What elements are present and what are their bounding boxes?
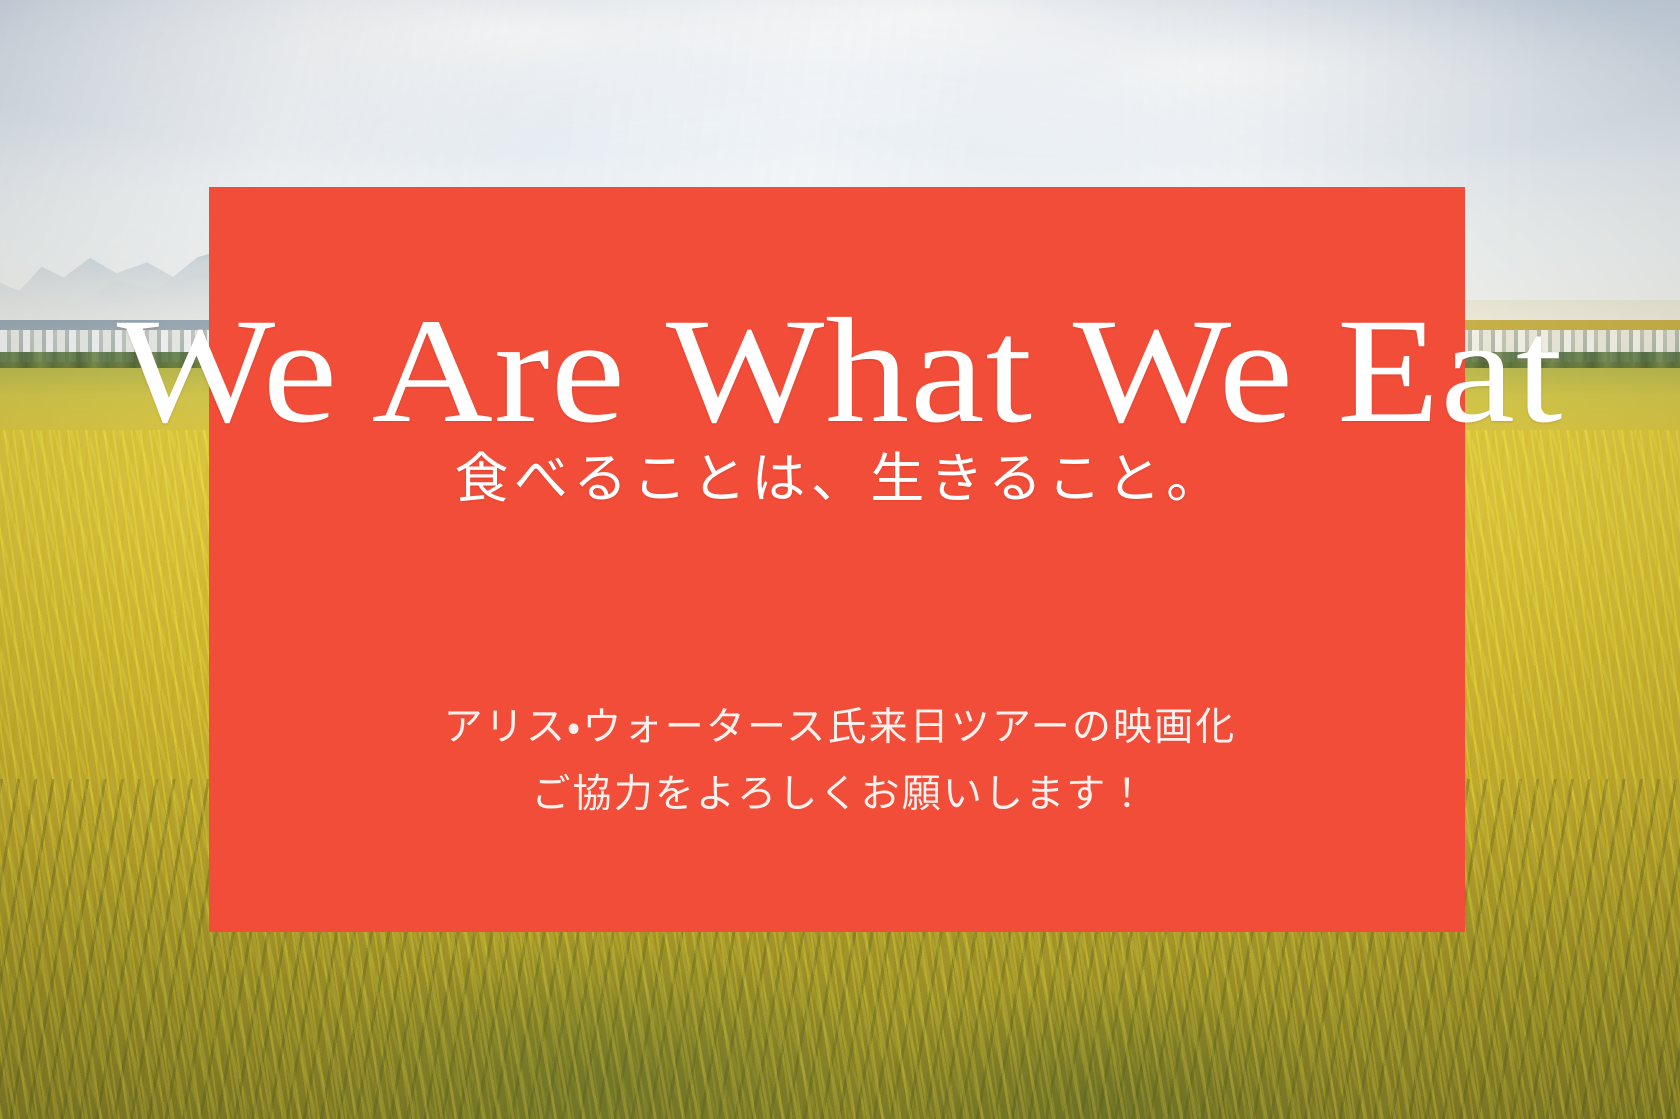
poster-subtitle: 食べることは、生きること。 [0,448,1680,510]
poster-tagline: アリス・ウォータース氏来日ツアーの映画化 ご協力をよろしくお願いします！ [0,694,1680,828]
poster-canvas: We Are What We Eat 食べることは、生きること。 アリス・ウォー… [0,0,1680,1119]
tagline-line-2: ご協力をよろしくお願いします！ [0,761,1680,828]
tagline-line-1: アリス・ウォータース氏来日ツアーの映画化 [0,694,1680,761]
poster-headline: We Are What We Eat [0,296,1680,446]
